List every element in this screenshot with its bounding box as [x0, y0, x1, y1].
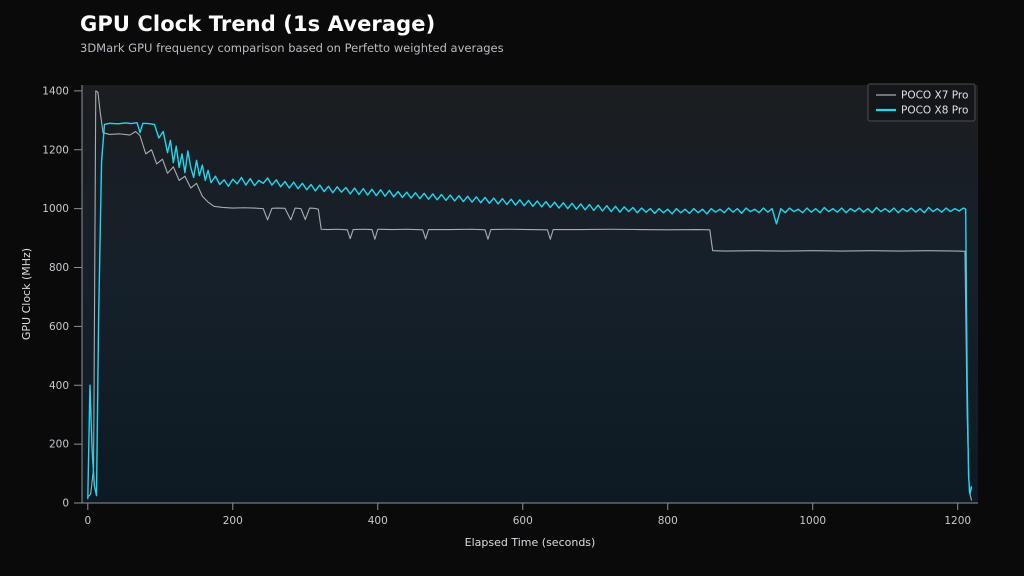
x-tick-label: 800 [658, 515, 678, 527]
x-axis-title: Elapsed Time (seconds) [465, 536, 596, 549]
x-tick-label: 600 [513, 515, 533, 527]
y-tick-label: 600 [49, 321, 69, 333]
y-tick-label: 200 [49, 439, 69, 451]
x-tick-group: 020040060080010001200 [84, 503, 971, 527]
y-tick-label: 1000 [42, 203, 69, 215]
x-tick-label: 1000 [799, 515, 826, 527]
plot-background [82, 85, 978, 503]
y-tick-label: 800 [49, 262, 69, 274]
x-axis: 020040060080010001200 Elapsed Time (seco… [82, 503, 978, 549]
y-axis: 0200400600800100012001400 GPU Clock (MHz… [20, 85, 82, 510]
x-tick-label: 0 [84, 515, 91, 527]
y-axis-title: GPU Clock (MHz) [20, 248, 33, 340]
x-tick-label: 200 [223, 515, 243, 527]
chart-figure: GPU Clock Trend (1s Average) 3DMark GPU … [0, 0, 1024, 576]
legend-label[interactable]: POCO X8 Pro [901, 105, 968, 117]
y-tick-label: 400 [49, 380, 69, 392]
y-tick-label: 1200 [42, 144, 69, 156]
y-tick-group: 0200400600800100012001400 [42, 85, 82, 509]
x-tick-label: 400 [368, 515, 388, 527]
y-tick-label: 0 [62, 498, 69, 510]
x-tick-label: 1200 [944, 515, 971, 527]
chart-plot: 0200400600800100012001400 GPU Clock (MHz… [0, 0, 1024, 576]
y-tick-label: 1400 [42, 85, 69, 97]
legend-label[interactable]: POCO X7 Pro [901, 90, 968, 102]
chart-legend[interactable]: POCO X7 ProPOCO X8 Pro [868, 84, 975, 121]
